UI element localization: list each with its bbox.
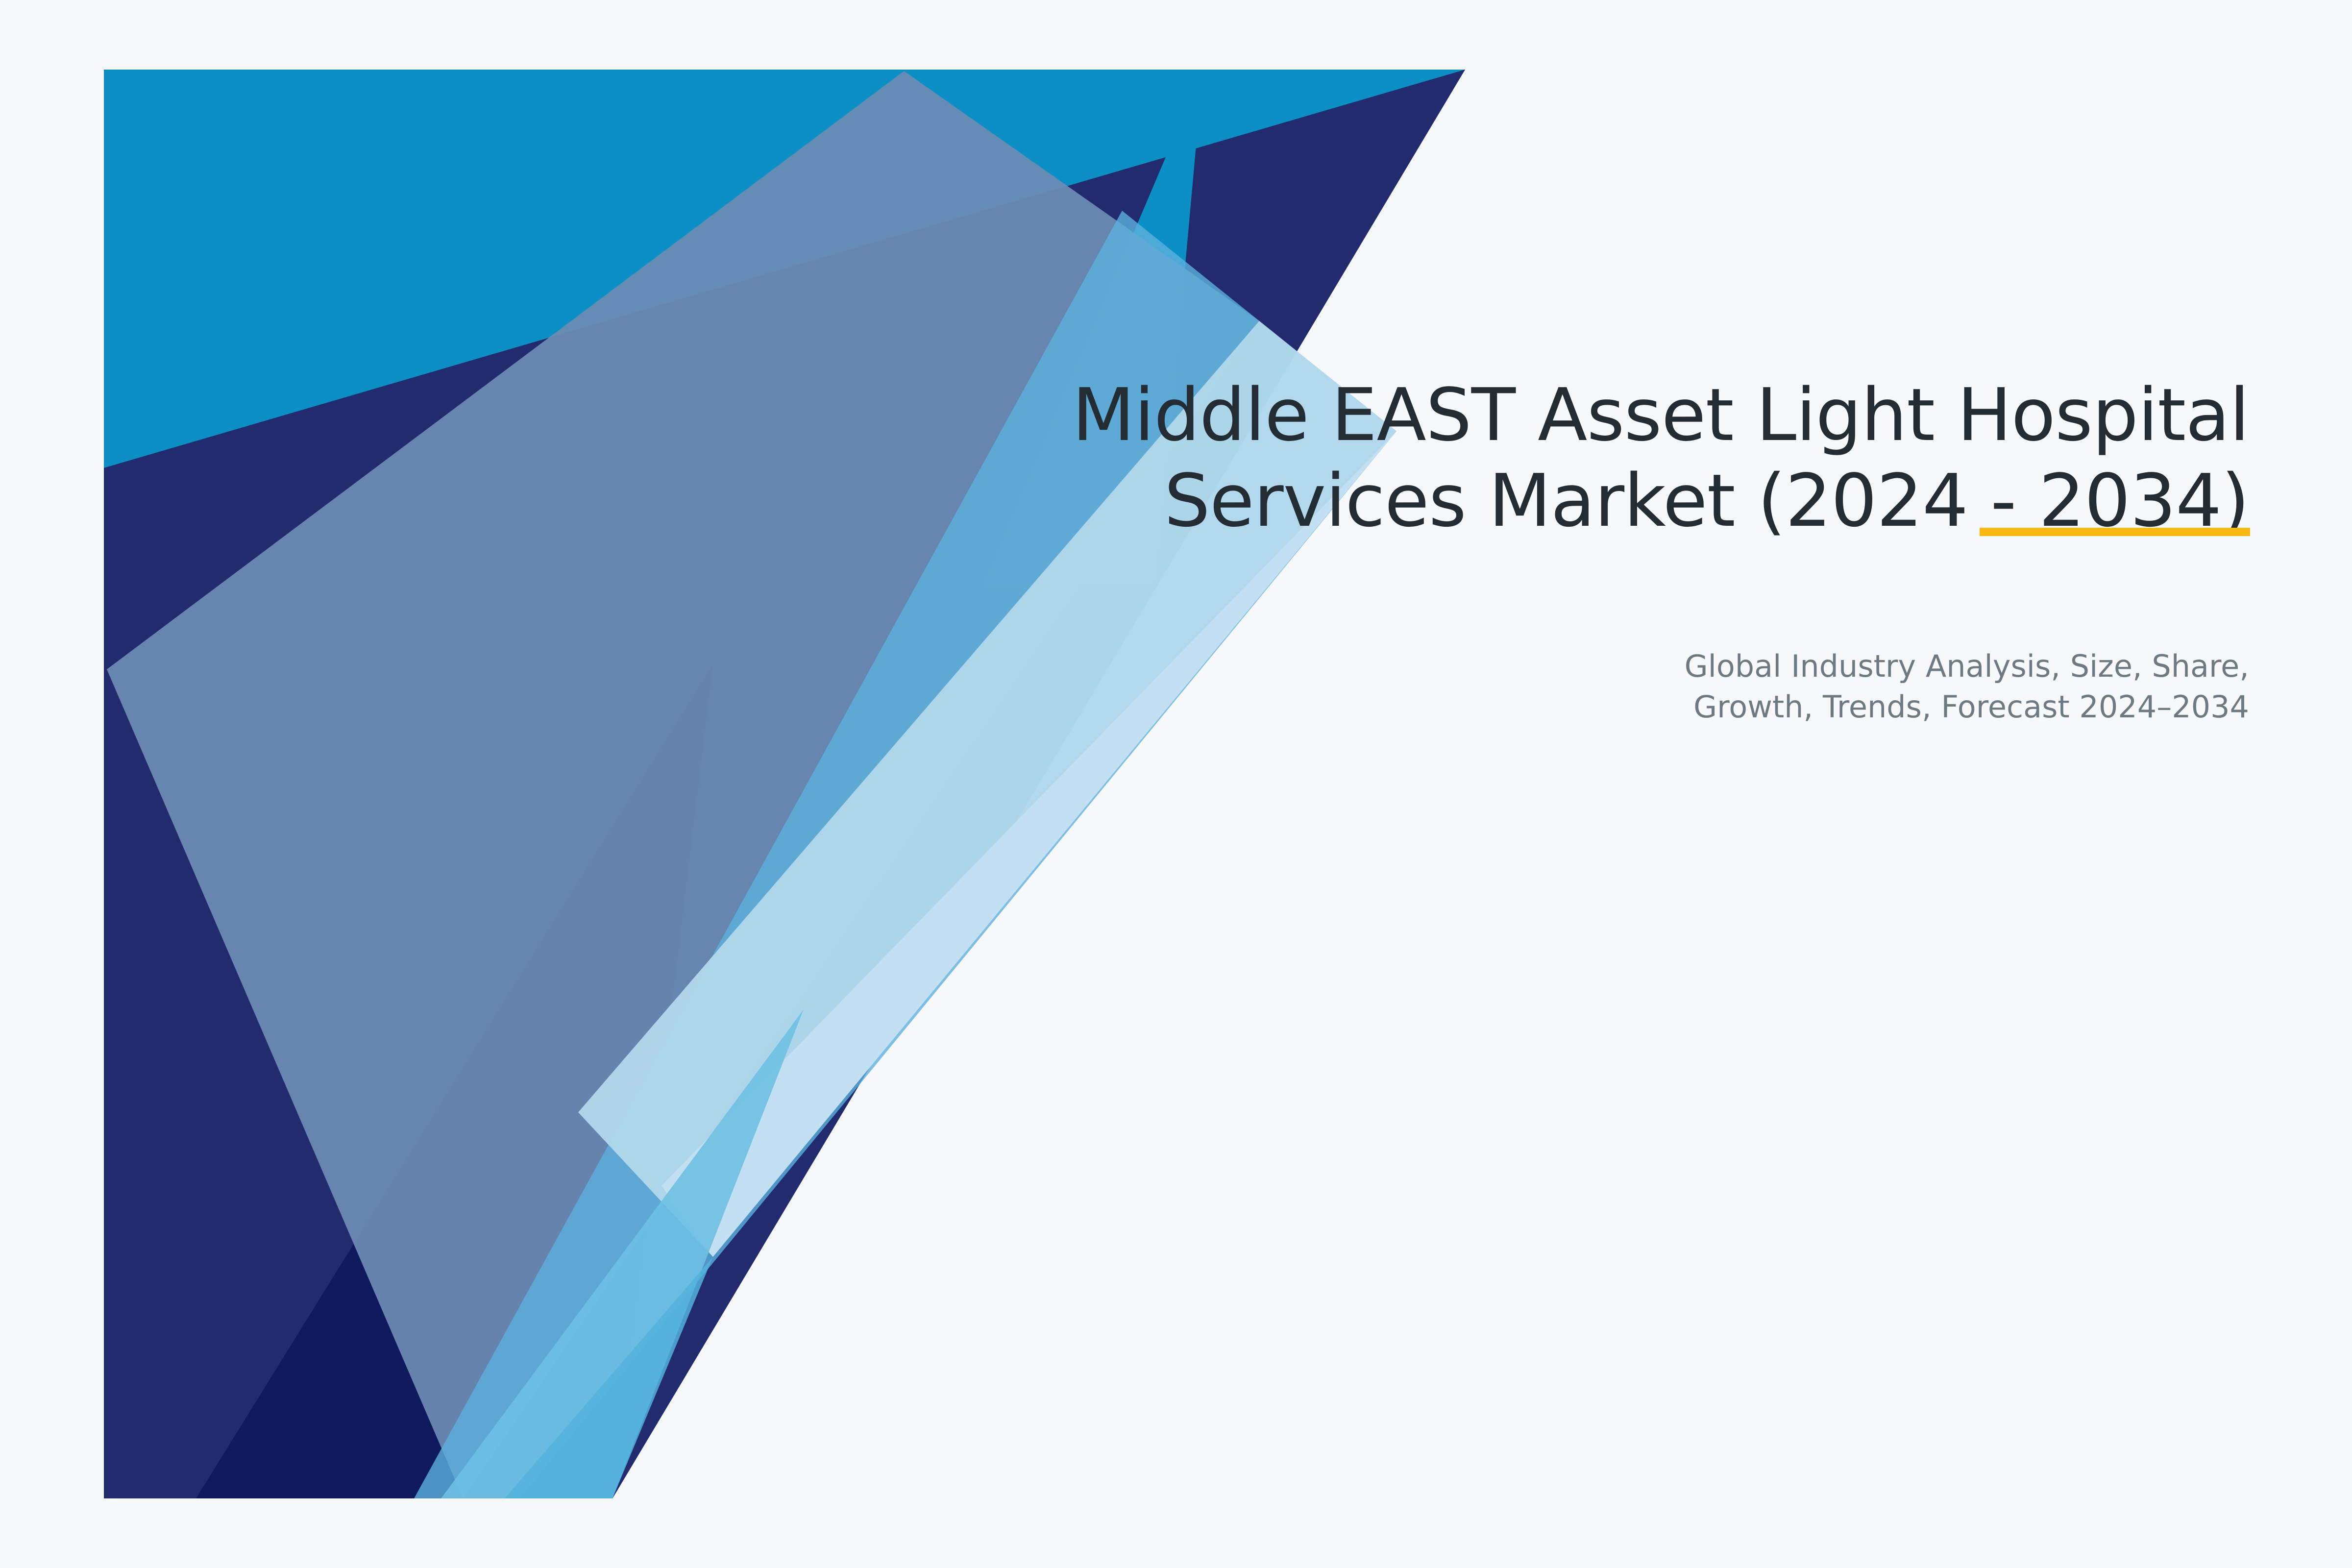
page-title: Middle EAST Asset Light Hospital Service… bbox=[931, 372, 2249, 543]
cover-page: Middle EAST Asset Light Hospital Service… bbox=[0, 0, 2352, 1568]
title-accent-underline bbox=[1980, 528, 2250, 536]
abstract-geometric-artwork bbox=[0, 0, 2352, 1568]
page-subtitle: Global Industry Analysis, Size, Share, G… bbox=[1421, 646, 2249, 727]
